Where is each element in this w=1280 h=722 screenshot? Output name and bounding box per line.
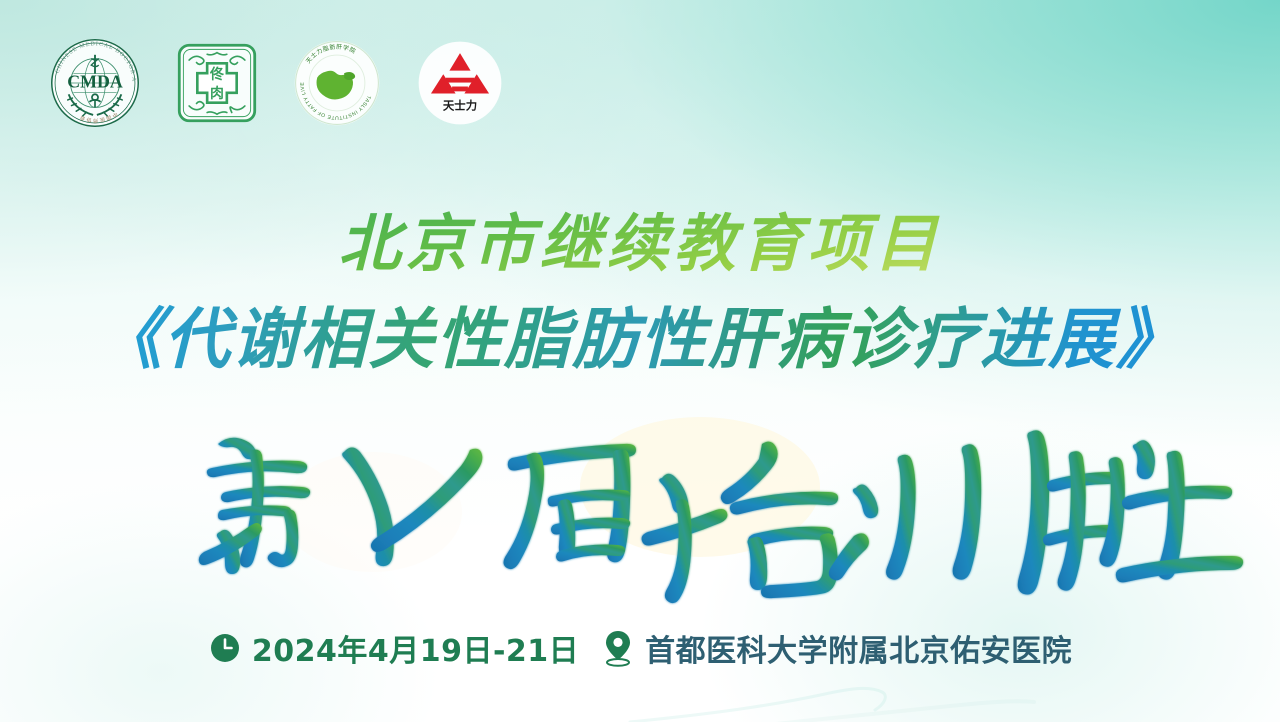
calligraphy-headline — [0, 392, 1280, 607]
tongren-hospital-logo: 佟 肉 — [176, 42, 258, 129]
location-pin-icon — [601, 629, 635, 667]
event-details: 2024年4月19日-21日 首都医科大学附属北京佑安医院 — [0, 626, 1280, 670]
cmda-acronym: CMDA — [67, 72, 123, 92]
calligraphy-char-4 — [829, 430, 1049, 594]
sponsor-logo-row: CHINESE MEDICAL DOCTOR ASSOCIATION 中国医师协… — [48, 36, 504, 135]
cmda-logo: CHINESE MEDICAL DOCTOR ASSOCIATION 中国医师协… — [48, 36, 142, 135]
tongren-char-bottom: 肉 — [210, 85, 224, 102]
calligraphy-char-2 — [504, 444, 637, 569]
tasly-institute-of-fatty-liver-logo: 天士力脂肪肝学院 TASLY INSTITUTE OF FATTY LIVER — [292, 38, 382, 133]
event-poster: CHINESE MEDICAL DOCTOR ASSOCIATION 中国医师协… — [0, 0, 1280, 722]
event-date-text: 2024年4月19日-21日 — [252, 626, 579, 670]
event-venue-text: 首都医科大学附属北京佑安医院 — [645, 626, 1072, 670]
tasly-logo: 天士力 TASLY — [416, 39, 504, 132]
clock-icon — [208, 631, 242, 665]
calligraphy-char-5 — [1043, 440, 1243, 590]
event-date: 2024年4月19日-21日 — [208, 626, 579, 670]
decorative-brush-flourish — [620, 670, 1040, 722]
tasly-brand-cn: 天士力 — [443, 98, 477, 112]
event-venue: 首都医科大学附属北京佑安医院 — [601, 626, 1072, 670]
tongren-char-top: 佟 — [209, 66, 225, 83]
program-subtitle: 北京市继续教育项目 — [0, 193, 1280, 283]
program-title: 《代谢相关性脂肪性肝病诊疗进展》 — [0, 286, 1280, 382]
